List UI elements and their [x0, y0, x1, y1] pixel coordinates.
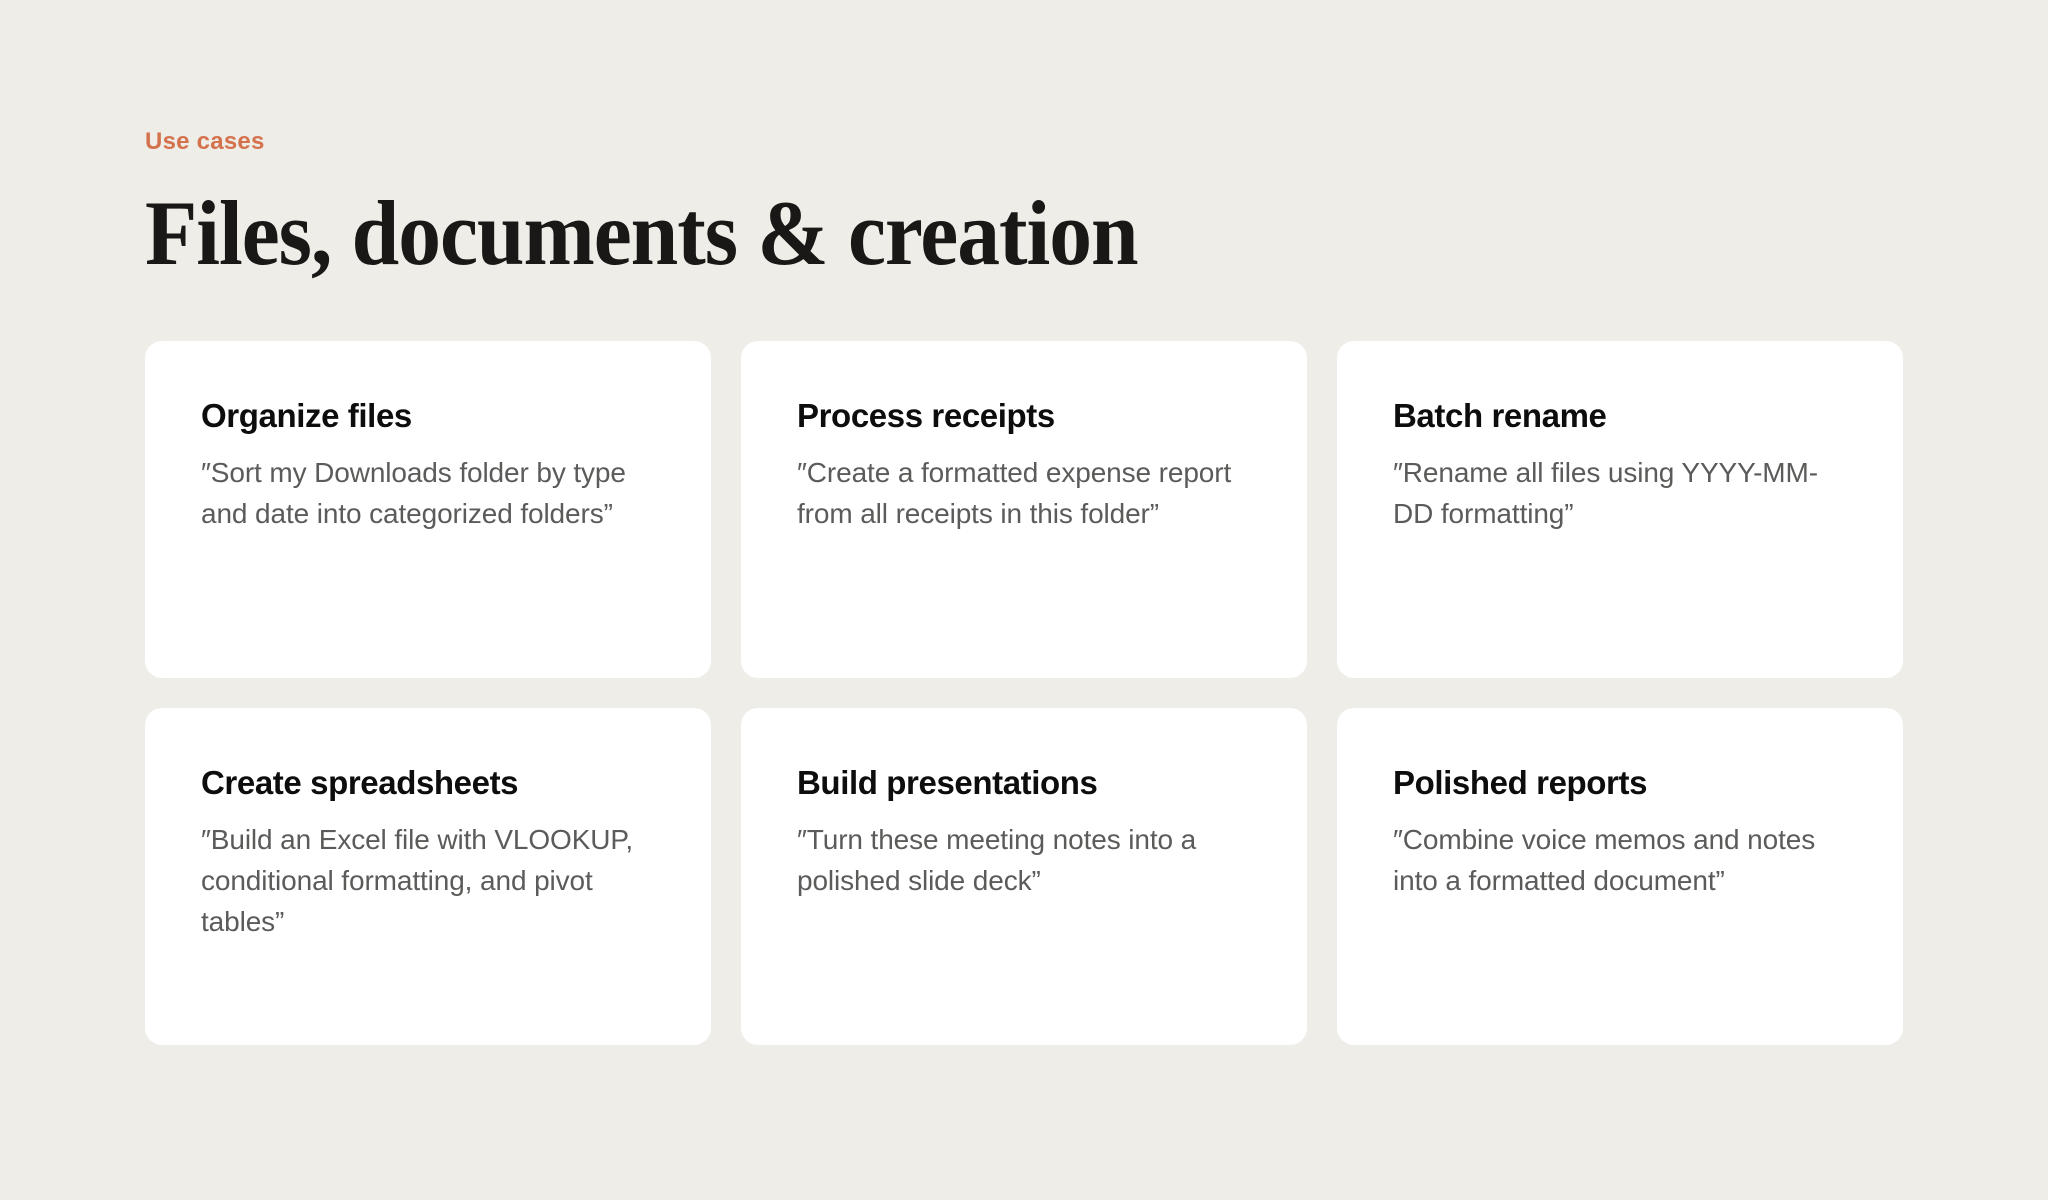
card-quote: ″Create a formatted expense report from … [797, 452, 1251, 534]
card-quote: ″Rename all files using YYYY-MM-DD forma… [1393, 452, 1847, 534]
use-case-card-process-receipts[interactable]: Process receipts ″Create a formatted exp… [741, 341, 1307, 678]
card-title: Process receipts [797, 395, 1251, 436]
use-case-card-create-spreadsheets[interactable]: Create spreadsheets ″Build an Excel file… [145, 708, 711, 1045]
content-container: Use cases Files, documents & creation Or… [145, 0, 1905, 1045]
use-case-card-polished-reports[interactable]: Polished reports ″Combine voice memos an… [1337, 708, 1903, 1045]
use-cases-page: Use cases Files, documents & creation Or… [0, 0, 2048, 1200]
card-quote: ″Sort my Downloads folder by type and da… [201, 452, 655, 534]
use-case-card-organize-files[interactable]: Organize files ″Sort my Downloads folder… [145, 341, 711, 678]
page-title: Files, documents & creation [145, 187, 1782, 279]
card-title: Batch rename [1393, 395, 1847, 436]
use-case-card-build-presentations[interactable]: Build presentations ″Turn these meeting … [741, 708, 1307, 1045]
card-quote: ″Build an Excel file with VLOOKUP, condi… [201, 819, 655, 942]
card-title: Create spreadsheets [201, 762, 655, 803]
card-quote: ″Combine voice memos and notes into a fo… [1393, 819, 1847, 901]
section-eyebrow-label: Use cases [145, 128, 1905, 157]
card-quote: ″Turn these meeting notes into a polishe… [797, 819, 1251, 901]
use-case-card-batch-rename[interactable]: Batch rename ″Rename all files using YYY… [1337, 341, 1903, 678]
card-title: Organize files [201, 395, 655, 436]
card-title: Polished reports [1393, 762, 1847, 803]
use-case-card-grid: Organize files ″Sort my Downloads folder… [145, 341, 1903, 1045]
card-title: Build presentations [797, 762, 1251, 803]
